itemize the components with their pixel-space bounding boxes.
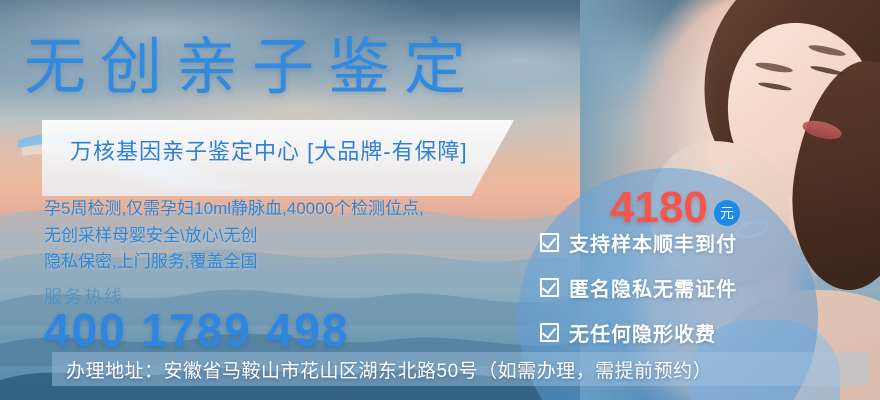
benefit-label: 支持样本顺丰到付 [569, 228, 737, 257]
address-text: 办理地址：安徽省马鞍山市花山区湖东北路50号（如需办理，需提前预约） [66, 356, 712, 383]
list-item: 匿名隐私无需证件 [540, 273, 810, 302]
promo-banner: 无创亲子鉴定 万核基因亲子鉴定中心 [大品牌-有保障] 孕5周检测,仅需孕妇10… [0, 0, 880, 400]
feature-list: 孕5周检测,仅需孕妇10ml静脉血,40000个检测位点, 无创采样母婴安全\放… [44, 196, 474, 276]
currency-badge: 元 [714, 200, 740, 226]
feature-line: 无创采样母婴安全\放心\无创 [44, 223, 474, 250]
list-item: 支持样本顺丰到付 [540, 228, 810, 257]
checkbox-check-icon [540, 233, 559, 252]
page-title: 无创亲子鉴定 [24, 16, 480, 106]
price-block: 4180 元 [610, 186, 740, 230]
price-value: 4180 [610, 186, 708, 230]
hotline-number[interactable]: 400 1789 498 [44, 303, 349, 357]
benefit-label: 无任何隐形收费 [569, 318, 716, 347]
benefit-label: 匿名隐私无需证件 [569, 273, 737, 302]
checkbox-check-icon [540, 323, 559, 342]
feature-line: 隐私保密,上门服务,覆盖全国 [44, 249, 474, 276]
checkbox-check-icon [540, 278, 559, 297]
subtitle-text: 万核基因亲子鉴定中心 [大品牌-有保障] [70, 134, 468, 166]
feature-line: 孕5周检测,仅需孕妇10ml静脉血,40000个检测位点, [44, 196, 474, 223]
list-item: 无任何隐形收费 [540, 318, 810, 347]
benefit-list: 支持样本顺丰到付 匿名隐私无需证件 无任何隐形收费 [540, 228, 810, 363]
